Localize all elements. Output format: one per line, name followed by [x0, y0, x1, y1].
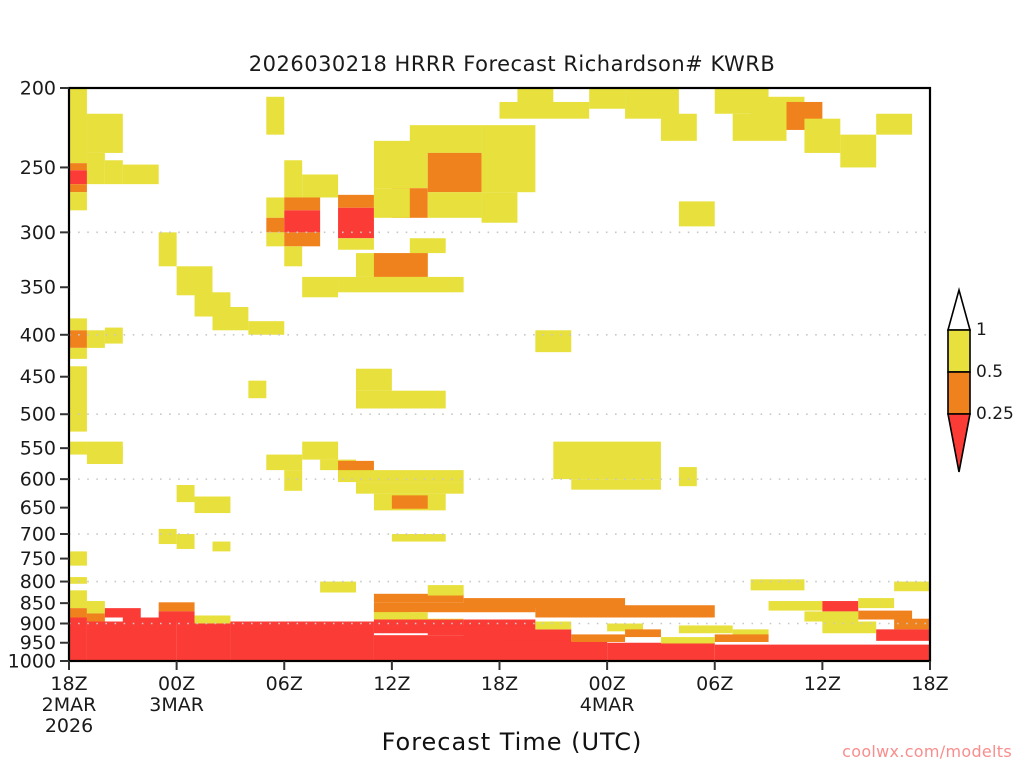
heatmap-cell	[87, 601, 105, 613]
heatmap-cell	[535, 622, 571, 630]
heatmap-cell	[338, 195, 374, 208]
colorbar-arrow-top	[948, 290, 970, 330]
y-tick-label: 600	[20, 469, 56, 491]
heatmap-cell	[535, 330, 571, 352]
x-tick-label: 12Z	[373, 673, 410, 695]
x-tick-date-label: 4MAR	[580, 694, 635, 716]
colorbar-tick-label: 0.25	[976, 404, 1014, 424]
y-tick-label: 500	[20, 404, 56, 426]
y-tick-label: 850	[20, 593, 56, 615]
heatmap-cell	[266, 218, 284, 233]
heatmap-cell	[553, 442, 661, 480]
colorbar-band	[948, 330, 970, 372]
heatmap-cell	[356, 482, 464, 494]
heatmap-cell	[213, 307, 249, 330]
heatmap-cell	[69, 192, 87, 210]
heatmap-cell	[876, 114, 912, 135]
x-tick-label: 18Z	[481, 673, 518, 695]
y-tick-label: 550	[20, 438, 56, 460]
heatmap-cell	[571, 479, 661, 490]
chart-page: 2026030218 HRRR Forecast Richardson# KWR…	[0, 0, 1024, 768]
heatmap-cell	[769, 601, 823, 611]
heatmap-cell	[69, 590, 87, 608]
heatmap-cell	[69, 608, 87, 617]
heatmap-cell	[266, 455, 302, 471]
heatmap-cell	[500, 102, 590, 119]
heatmap-cell	[482, 192, 518, 223]
y-tick-label: 450	[20, 366, 56, 388]
heatmap-cell	[195, 615, 231, 623]
heatmap-cell	[392, 495, 428, 508]
heatmap-cell	[159, 602, 195, 611]
heatmap-cell	[177, 485, 195, 502]
heatmap-cell	[607, 643, 715, 661]
heatmap-cell	[338, 238, 374, 249]
heatmap-cell	[571, 634, 625, 642]
heatmap-cell	[195, 497, 231, 514]
x-tick-label: 12Z	[804, 673, 841, 695]
heatmap-cell	[338, 277, 464, 292]
heatmap-cell	[822, 601, 858, 611]
heatmap-cell	[69, 88, 87, 163]
heatmap-cell	[284, 197, 320, 210]
y-tick-label: 200	[20, 78, 56, 100]
heatmap-cell	[69, 163, 87, 170]
heatmap-cell	[87, 613, 105, 621]
heatmap-cell	[69, 170, 87, 184]
y-axis: 2002503003504004505005506006507007508008…	[8, 78, 69, 673]
heatmap-cell	[177, 266, 213, 295]
heatmap-cell	[428, 192, 482, 218]
heatmap-cell	[87, 330, 105, 348]
heatmap-cell	[804, 611, 858, 621]
heatmap-cell	[87, 153, 105, 184]
heatmap-cell	[661, 637, 715, 643]
heatmap-cell	[87, 447, 123, 464]
meteogram-plot: 2002503003504004505005506006507007508008…	[0, 0, 1024, 768]
heatmap-cell	[177, 622, 231, 661]
heatmap-cell	[374, 188, 410, 218]
x-tick-label: 06Z	[696, 673, 733, 695]
heatmap-cell	[69, 366, 87, 431]
heatmap-cell	[374, 635, 500, 661]
heatmap-cell	[266, 97, 284, 135]
y-tick-label: 650	[20, 497, 56, 519]
heatmap-cell	[715, 634, 769, 642]
heatmap-cell	[159, 232, 177, 266]
heatmap-cell	[338, 208, 374, 238]
heatmap-cell	[876, 629, 930, 640]
heatmap-cell	[105, 328, 123, 344]
heatmap-cell	[284, 210, 320, 232]
heatmap-cell	[69, 577, 87, 584]
x-axis: 18Z2MAR202600Z3MAR06Z12Z18Z00Z4MAR06Z12Z…	[42, 661, 949, 737]
heatmap-cell	[679, 467, 697, 486]
heatmap-cell	[679, 201, 715, 226]
colorbar-tick-label: 1	[976, 320, 987, 340]
y-tick-label: 700	[20, 524, 56, 546]
heatmap-cell	[392, 534, 446, 542]
y-tick-label: 750	[20, 548, 56, 570]
x-tick-label: 18Z	[911, 673, 948, 695]
heatmap-cell	[105, 608, 141, 617]
colorbar-band	[948, 372, 970, 414]
heatmap-cell	[69, 551, 87, 565]
heatmap-cell	[428, 585, 464, 595]
heatmap-cell	[894, 582, 930, 592]
heatmap-cell	[535, 605, 714, 617]
heatmap-cell	[69, 330, 87, 348]
heatmap-cell	[804, 119, 840, 153]
heatmap-cell	[302, 442, 338, 460]
heatmap-cell	[159, 529, 177, 544]
heatmap-cell	[589, 88, 625, 109]
x-tick-label: 00Z	[589, 673, 626, 695]
heatmap-cell	[840, 135, 876, 168]
heatmap-cell	[284, 246, 302, 266]
heatmap-cell	[356, 391, 446, 409]
y-tick-label: 250	[20, 157, 56, 179]
heatmap-cell	[751, 579, 805, 590]
heatmap-cell	[715, 645, 930, 661]
heatmap-cell	[284, 232, 320, 246]
heatmap-cell	[500, 641, 608, 661]
heatmap-cell	[123, 165, 159, 185]
heatmap-cell	[625, 629, 661, 637]
y-tick-label: 800	[20, 571, 56, 593]
heatmap-cell	[858, 598, 894, 608]
heatmap-cell	[410, 125, 482, 153]
x-tick-label: 06Z	[266, 673, 303, 695]
y-tick-label: 300	[20, 222, 56, 244]
heatmap-cell	[284, 470, 302, 491]
heatmap-cell	[230, 622, 374, 661]
heatmap-cell	[356, 369, 392, 391]
heatmap-cell	[87, 114, 123, 153]
colorbar-tick-label: 0.5	[976, 362, 1003, 382]
heatmap-cell	[69, 318, 87, 330]
heatmap-cell	[69, 184, 87, 192]
heatmap-cell	[105, 160, 123, 184]
heatmap-cell	[374, 612, 428, 619]
heatmap-cell	[822, 622, 876, 634]
heatmap-cell	[338, 470, 464, 482]
x-tick-label: 18Z	[50, 673, 87, 695]
x-tick-label: 00Z	[158, 673, 195, 695]
y-tick-label: 400	[20, 324, 56, 346]
heatmap-cell	[410, 238, 446, 253]
heatmap-cell	[69, 442, 87, 455]
heatmap-cell	[428, 153, 482, 192]
heatmap-cell	[248, 381, 266, 399]
heatmap-cell	[679, 625, 733, 633]
heatmap-cell	[320, 582, 356, 593]
y-tick-label: 1000	[8, 651, 56, 673]
heatmap-cell	[159, 611, 195, 621]
heatmap-cell	[858, 611, 912, 620]
heatmap-cell	[302, 174, 338, 197]
heatmap-cell	[87, 622, 177, 661]
heatmap-cell	[266, 232, 284, 246]
heatmap-cell	[482, 125, 536, 192]
colorbar-legend[interactable]: 10.50.25	[948, 290, 1014, 472]
heatmap-cell	[177, 534, 195, 549]
heatmap-cell	[266, 197, 284, 217]
watermark-link[interactable]: coolwx.com/modelts	[842, 742, 1012, 761]
heatmap-cell	[284, 160, 302, 197]
colorbar-arrow-bottom	[948, 414, 970, 472]
heatmap-cell	[69, 348, 87, 359]
y-tick-label: 350	[20, 277, 56, 299]
heatmap-cell	[661, 114, 697, 141]
heatmap-cell	[302, 277, 338, 297]
heatmap-cell	[248, 321, 284, 335]
heatmap-cell	[374, 253, 428, 277]
x-tick-date-label: 3MAR	[149, 694, 204, 716]
heatmap-cell	[733, 114, 787, 141]
heatmap-cell	[213, 542, 231, 552]
heatmap-cell	[69, 618, 87, 661]
x-tick-date-label: 2MAR	[42, 694, 97, 716]
